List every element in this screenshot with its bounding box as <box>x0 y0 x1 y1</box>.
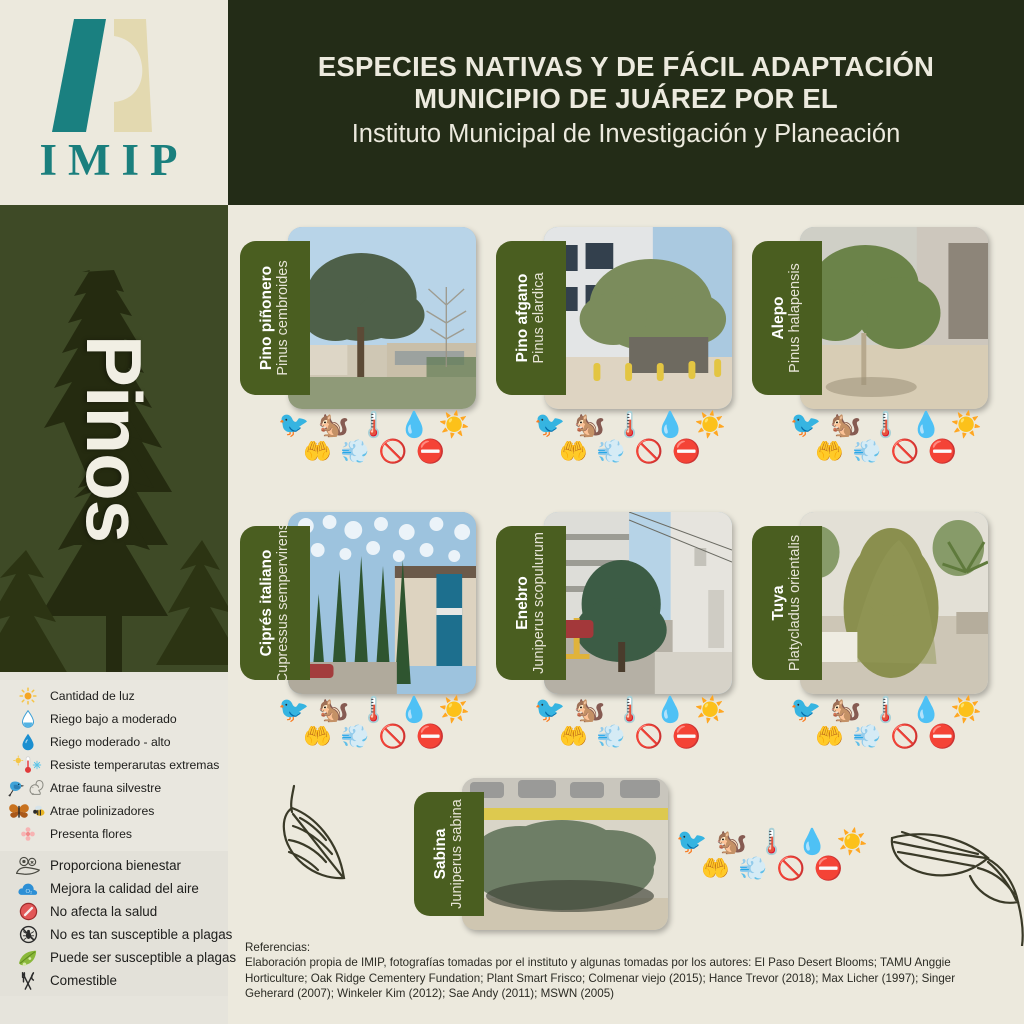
species-photo <box>288 512 476 694</box>
thermometer-icon: 🌡️ <box>358 413 389 438</box>
species-card[interactable]: Sabina Juniperus sabina <box>414 778 668 930</box>
no-health-effect-icon: ⛔ <box>672 725 701 748</box>
squirrel-icon: 🐿️ <box>830 413 861 438</box>
no-health-effect-icon: ⛔ <box>416 440 445 463</box>
thermometer-icon: 🌡️ <box>358 698 389 723</box>
poster-root: IMIP ESPECIES NATIVAS Y DE FÁCIL ADAPTAC… <box>0 0 1024 1024</box>
species-icon-strip: 🐦🐿️🌡️💧☀️ 🤲💨🚫⛔ <box>788 413 984 463</box>
species-card[interactable]: Tuya Platycladus orientalis <box>752 512 988 694</box>
legend-panel: Cantidad de luz Riego bajo a moderado Ri… <box>0 672 228 1024</box>
air-quality-icon: 💨 <box>853 725 882 748</box>
references-block: Referencias: Elaboración propia de IMIP,… <box>245 940 1005 1002</box>
thermometer-icon: 🌡️ <box>870 413 901 438</box>
header-subtitle: Instituto Municipal de Investigación y P… <box>352 118 901 151</box>
icon-row-secondary: 🤲💨🚫⛔ <box>559 725 701 748</box>
legend-item: Riego moderado - alto <box>0 730 228 753</box>
sun-icon: ☀️ <box>439 698 470 723</box>
svg-text:O₂: O₂ <box>25 889 32 895</box>
species-common-name: Sabina <box>432 799 449 909</box>
bird-icon: 🐦 <box>790 413 821 438</box>
species-scientific-name: Cupressus sempervirens <box>275 526 292 680</box>
species-icon-strip: 🐦🐿️🌡️💧☀️ 🤲💨🚫⛔ <box>532 413 728 463</box>
hand-wellbeing-icon: 🤲 <box>815 725 844 748</box>
species-common-name: Pino piñonero <box>258 260 275 375</box>
legend-item-label: Atrae polinizadores <box>50 804 154 818</box>
legend-item-label: No afecta la salud <box>50 904 157 919</box>
legend-item-label: Presenta flores <box>50 827 132 841</box>
hand-wellbeing-icon <box>6 856 50 876</box>
air-quality-icon: 💨 <box>739 857 768 880</box>
icon-row-primary: 🐦🐿️🌡️💧☀️ <box>676 830 868 855</box>
legend-item: O₂ Mejora la calidad del aire <box>0 877 228 900</box>
legend-item: Proporciona bienestar <box>0 854 228 877</box>
thermometer-icon: 🌡️ <box>756 830 787 855</box>
species-label-panel: Pino piñonero Pinus cembroides <box>240 241 310 395</box>
icon-row-primary: 🐦🐿️🌡️💧☀️ <box>278 698 470 723</box>
bird-icon: 🐦 <box>790 698 821 723</box>
icon-row-secondary: 🤲💨🚫⛔ <box>815 725 957 748</box>
icon-row-primary: 🐦🐿️🌡️💧☀️ <box>790 698 982 723</box>
icon-row-secondary: 🤲💨🚫⛔ <box>701 857 843 880</box>
species-card[interactable]: Alepo Pinus halapensis <box>752 227 988 409</box>
sun-icon: ☀️ <box>837 830 868 855</box>
no-health-effect-icon: ⛔ <box>416 725 445 748</box>
bird-squirrel-icon <box>6 778 50 798</box>
no-pest-icon: 🚫 <box>379 725 408 748</box>
species-icon-strip: 🐦🐿️🌡️💧☀️ 🤲💨🚫⛔ <box>788 698 984 748</box>
water-drop-light-icon <box>6 710 50 728</box>
legend-item: Resiste temperarutas extremas <box>0 753 228 776</box>
air-quality-icon: 💨 <box>341 440 370 463</box>
legend-item-label: Riego moderado - alto <box>50 735 171 749</box>
species-scientific-name: Pinus halapensis <box>787 263 804 373</box>
legend-item-label: Comestible <box>50 973 117 988</box>
thermometer-icon <box>6 755 50 775</box>
icon-row-secondary: 🤲💨🚫⛔ <box>303 725 445 748</box>
species-label-panel: Alepo Pinus halapensis <box>752 241 822 395</box>
species-photo <box>462 778 668 930</box>
squirrel-icon: 🐿️ <box>318 413 349 438</box>
sun-icon: ☀️ <box>439 413 470 438</box>
hand-wellbeing-icon: 🤲 <box>701 857 730 880</box>
legend-item: Atrae fauna silvestre <box>0 776 228 799</box>
species-common-name: Pino afgano <box>514 272 531 363</box>
icon-row-primary: 🐦🐿️🌡️💧☀️ <box>278 413 470 438</box>
icon-row-primary: 🐦🐿️🌡️💧☀️ <box>534 698 726 723</box>
legend-item-label: No es tan susceptible a plagas <box>50 927 232 942</box>
species-icon-strip: 🐦🐿️🌡️💧☀️ 🤲💨🚫⛔ <box>276 698 472 748</box>
legend-item: No es tan susceptible a plagas <box>0 923 228 946</box>
thermometer-icon: 🌡️ <box>870 698 901 723</box>
bird-icon: 🐦 <box>278 698 309 723</box>
species-label-panel: Pino afgano Pinus elardica <box>496 241 566 395</box>
squirrel-icon: 🐿️ <box>574 698 605 723</box>
poster-header: ESPECIES NATIVAS Y DE FÁCIL ADAPTACIÓN M… <box>228 0 1024 205</box>
air-quality-icon: 💨 <box>853 440 882 463</box>
water-drop-icon: 💧 <box>911 698 942 723</box>
sun-icon: ☀️ <box>951 413 982 438</box>
hand-wellbeing-icon: 🤲 <box>303 440 332 463</box>
hand-wellbeing-icon: 🤲 <box>559 725 588 748</box>
no-health-effect-icon: ⛔ <box>814 857 843 880</box>
legend-item: No afecta la salud <box>0 900 228 923</box>
species-label-panel: Enebro Juniperus scopulurum <box>496 526 566 680</box>
water-drop-icon: 💧 <box>911 413 942 438</box>
water-drop-icon: 💧 <box>797 830 828 855</box>
legend-item: Riego bajo a moderado <box>0 707 228 730</box>
sun-icon <box>6 687 50 705</box>
no-pest-icon: 🚫 <box>891 440 920 463</box>
air-quality-icon: O₂ <box>6 880 50 898</box>
species-common-name: Enebro <box>514 532 531 674</box>
no-pest-icon: 🚫 <box>635 440 664 463</box>
sun-icon: ☀️ <box>695 413 726 438</box>
bird-icon: 🐦 <box>676 830 707 855</box>
legend-item-label: Riego bajo a moderado <box>50 712 177 726</box>
no-health-effect-icon: ⛔ <box>928 440 957 463</box>
species-icon-strip: 🐦🐿️🌡️💧☀️ 🤲💨🚫⛔ <box>532 698 728 748</box>
species-scientific-name: Juniperus sabina <box>449 799 466 909</box>
species-label-panel: Tuya Platycladus orientalis <box>752 526 822 680</box>
icon-row-primary: 🐦🐿️🌡️💧☀️ <box>790 413 982 438</box>
hand-wellbeing-icon: 🤲 <box>815 440 844 463</box>
sun-icon: ☀️ <box>951 698 982 723</box>
imip-logo-mark <box>34 14 194 136</box>
no-pest-icon: 🚫 <box>379 440 408 463</box>
imip-logo: IMIP <box>0 0 228 205</box>
header-title-line2: MUNICIPIO DE JUÁREZ POR EL <box>414 83 838 115</box>
references-body: Elaboración propia de IMIP, fotografías … <box>245 956 955 1000</box>
thermometer-icon: 🌡️ <box>614 413 645 438</box>
species-photo <box>544 512 732 694</box>
no-health-effect-icon: ⛔ <box>672 440 701 463</box>
species-card[interactable]: Enebro Juniperus scopulurum <box>496 512 732 694</box>
species-scientific-name: Pinus elardica <box>531 272 548 363</box>
species-photo <box>288 227 476 409</box>
pest-leaf-icon <box>6 949 50 967</box>
thermometer-icon: 🌡️ <box>614 698 645 723</box>
species-common-name: Alepo <box>770 263 787 373</box>
squirrel-icon: 🐿️ <box>830 698 861 723</box>
icon-row-secondary: 🤲💨🚫⛔ <box>815 440 957 463</box>
legend-item-label: Resiste temperarutas extremas <box>50 758 219 772</box>
squirrel-icon: 🐿️ <box>318 698 349 723</box>
imip-logo-text: IMIP <box>0 134 228 186</box>
water-drop-icon: 💧 <box>655 413 686 438</box>
bird-icon: 🐦 <box>534 698 565 723</box>
species-icon-strip: 🐦🐿️🌡️💧☀️ 🤲💨🚫⛔ <box>674 830 870 880</box>
species-common-name: Tuya <box>770 535 787 671</box>
species-photo <box>800 227 988 409</box>
water-drop-icon: 💧 <box>655 698 686 723</box>
water-drop-icon: 💧 <box>399 698 430 723</box>
references-title: Referencias: <box>245 940 1005 955</box>
species-photo <box>800 512 988 694</box>
species-label-panel: Ciprés italiano Cupressus sempervirens <box>240 526 310 680</box>
species-common-name: Ciprés italiano <box>258 526 275 680</box>
legend-item-label: Proporciona bienestar <box>50 858 181 873</box>
category-sidebar: Pinos <box>0 205 228 672</box>
edible-icon <box>6 971 50 991</box>
bird-icon: 🐦 <box>534 413 565 438</box>
bird-icon: 🐦 <box>278 413 309 438</box>
legend-item-label: Puede ser susceptible a plagas <box>50 950 236 965</box>
species-card[interactable]: Pino afgano Pinus elardica <box>496 227 732 409</box>
air-quality-icon: 💨 <box>597 725 626 748</box>
squirrel-icon: 🐿️ <box>716 830 747 855</box>
legend-item: Puede ser susceptible a plagas <box>0 946 228 969</box>
no-health-effect-icon <box>6 902 50 921</box>
icon-row-secondary: 🤲💨🚫⛔ <box>303 440 445 463</box>
sidebar-category-title: Pinos <box>0 205 228 672</box>
no-pest-icon: 🚫 <box>777 857 806 880</box>
no-pest-icon: 🚫 <box>635 725 664 748</box>
species-label-panel: Sabina Juniperus sabina <box>414 792 484 916</box>
icon-row-primary: 🐦🐿️🌡️💧☀️ <box>534 413 726 438</box>
flower-icon <box>6 826 50 842</box>
air-quality-icon: 💨 <box>341 725 370 748</box>
legend-item: Presenta flores <box>0 822 228 845</box>
icon-row-secondary: 🤲💨🚫⛔ <box>559 440 701 463</box>
hand-wellbeing-icon: 🤲 <box>559 440 588 463</box>
water-drop-full-icon <box>6 733 50 751</box>
legend-item: Cantidad de luz <box>0 684 228 707</box>
water-drop-icon: 💧 <box>399 413 430 438</box>
legend-item-label: Atrae fauna silvestre <box>50 781 161 795</box>
legend-item-label: Mejora la calidad del aire <box>50 881 199 896</box>
no-pest-icon: 🚫 <box>891 725 920 748</box>
header-title-line1: ESPECIES NATIVAS Y DE FÁCIL ADAPTACIÓN <box>318 51 934 83</box>
species-photo <box>544 227 732 409</box>
no-pest-icon <box>6 925 50 944</box>
species-scientific-name: Juniperus scopulurum <box>531 532 548 674</box>
no-health-effect-icon: ⛔ <box>928 725 957 748</box>
species-scientific-name: Platycladus orientalis <box>787 535 804 671</box>
species-scientific-name: Pinus cembroides <box>275 260 292 375</box>
legend-group-benefits: Proporciona bienestar O₂ Mejora la calid… <box>0 851 228 996</box>
species-icon-strip: 🐦🐿️🌡️💧☀️ 🤲💨🚫⛔ <box>276 413 472 463</box>
legend-item: Comestible <box>0 969 228 992</box>
species-card[interactable]: Ciprés italiano Cupressus sempervirens <box>240 512 476 694</box>
air-quality-icon: 💨 <box>597 440 626 463</box>
leaf-decoration-right-icon <box>886 806 1024 946</box>
squirrel-icon: 🐿️ <box>574 413 605 438</box>
legend-group-conditions: Cantidad de luz Riego bajo a moderado Ri… <box>0 680 228 851</box>
leaf-decoration-left-icon <box>262 778 367 898</box>
hand-wellbeing-icon: 🤲 <box>303 725 332 748</box>
butterfly-bee-icon <box>6 801 50 821</box>
legend-item: Atrae polinizadores <box>0 799 228 822</box>
sun-icon: ☀️ <box>695 698 726 723</box>
legend-item-label: Cantidad de luz <box>50 689 135 703</box>
species-card[interactable]: Pino piñonero Pinus cembroides <box>240 227 476 409</box>
